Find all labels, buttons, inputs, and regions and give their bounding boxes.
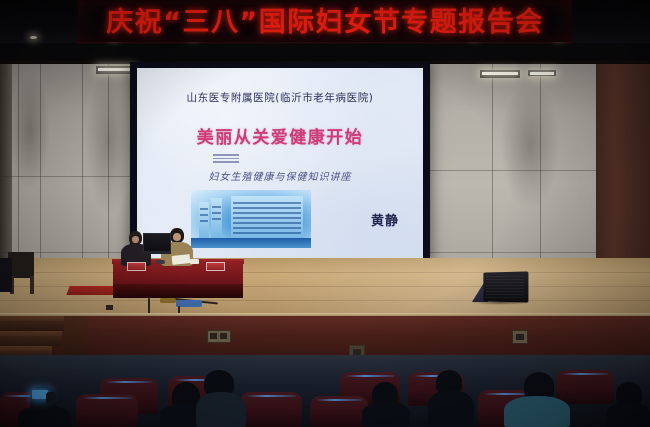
- banner-text: 庆祝“三八”国际妇女节专题报告会: [106, 9, 544, 36]
- seat-rim-light: [562, 373, 608, 375]
- speaker-grill: [486, 276, 524, 298]
- cable-bundle: [160, 298, 176, 303]
- stage-outlet-panel: [512, 330, 528, 344]
- slide-subtitle: 妇女生殖健康与保健知识讲座: [137, 168, 423, 183]
- audience-member-shoulders: [362, 402, 410, 427]
- slide-organization: 山东医专附属医院(临沂市老年病医院): [137, 90, 423, 105]
- audience-member-shoulders: [504, 396, 570, 427]
- seat-rim-light: [246, 395, 296, 397]
- ceiling-downlight: [30, 36, 37, 39]
- slide-title: 美丽从关爱健康开始: [137, 123, 423, 148]
- seat-rim-light: [346, 375, 394, 377]
- audience-member-shoulders: [606, 402, 650, 427]
- person-face: [132, 236, 139, 243]
- stage-step: [0, 336, 62, 346]
- audience-member-shoulders: [428, 390, 474, 427]
- wall-light-fixture: [528, 70, 556, 76]
- stage-apron: [0, 316, 650, 360]
- seat-rim-light: [82, 397, 132, 399]
- wall-seam: [430, 252, 596, 253]
- auditorium-photo: 庆祝“三八”国际妇女节专题报告会 山东医专附属医院(临沂市老年病医院) 美丽从关…: [0, 0, 650, 427]
- audience-seat: [240, 392, 302, 427]
- wall-column-right: [596, 64, 650, 289]
- name-card: [206, 262, 225, 271]
- wall-light-fixture: [480, 70, 520, 78]
- audience-member-shoulders: [18, 406, 70, 427]
- seat-rim-light: [106, 381, 152, 383]
- seat-rim-light: [316, 399, 362, 401]
- stage-outlet-panel: [207, 330, 231, 343]
- name-card: [127, 262, 146, 271]
- floor-plug: [106, 305, 113, 310]
- paper-documents: [172, 254, 191, 265]
- person-face: [173, 233, 181, 241]
- wall-shading: [500, 80, 560, 210]
- table-shadow: [113, 284, 243, 298]
- audience-seat: [556, 370, 614, 404]
- chair-leg: [30, 276, 34, 294]
- raised-hand: [46, 392, 56, 405]
- floor-plank-line: [0, 300, 650, 301]
- stage-step: [0, 321, 72, 331]
- microphone: [156, 260, 165, 264]
- wall-shading: [86, 66, 132, 216]
- laptop-base: [141, 251, 171, 254]
- slide-divider: [213, 154, 239, 163]
- hospital-building-photo: [191, 190, 311, 248]
- slide-speaker-name: 黄静: [371, 210, 399, 229]
- floor-plank-line: [0, 272, 650, 273]
- audience-member-shoulders: [196, 392, 246, 427]
- wall-seam: [492, 64, 493, 288]
- wall-shading: [10, 70, 50, 190]
- led-banner: 庆祝“三八”国际妇女节专题报告会: [78, 2, 572, 42]
- draped-cloth: [0, 258, 12, 292]
- paper-documents: [190, 259, 199, 264]
